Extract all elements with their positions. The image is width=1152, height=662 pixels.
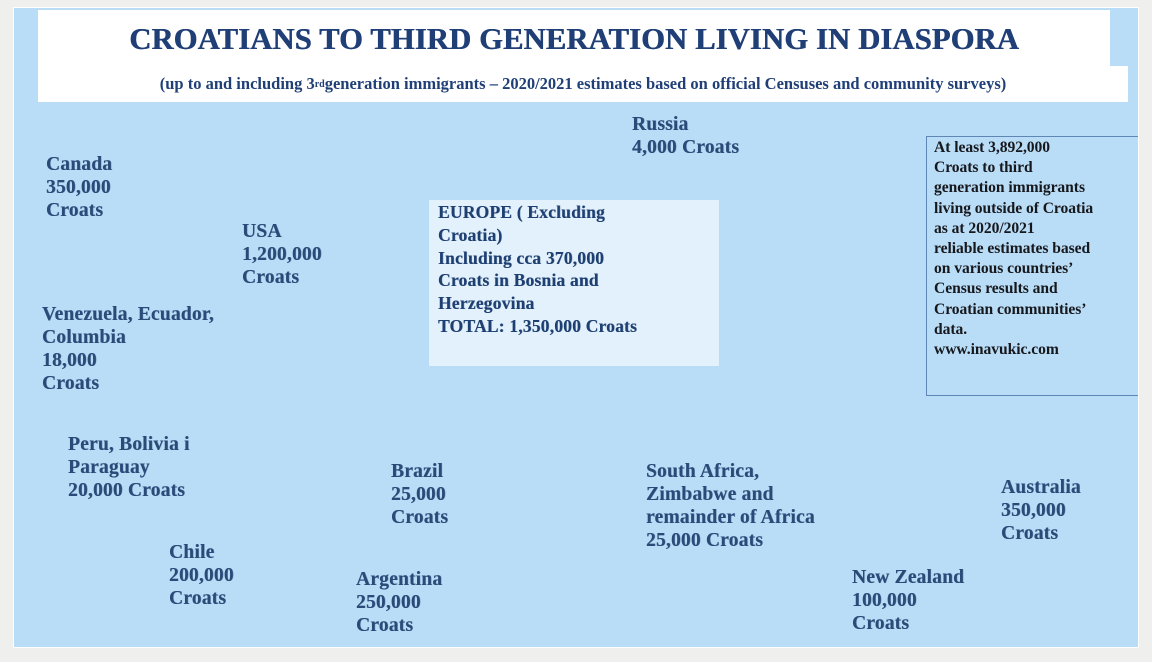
- subtitle-pre: (up to and including 3: [160, 74, 315, 94]
- page-subtitle: (up to and including 3rd generation immi…: [38, 66, 1128, 102]
- label-australia: Australia 350,000 Croats: [1001, 476, 1081, 545]
- label-brazil: Brazil 25,000 Croats: [391, 460, 448, 529]
- summary-info-text: At least 3,892,000 Croats to third gener…: [934, 138, 1138, 360]
- label-canada: Canada 350,000 Croats: [46, 153, 112, 222]
- label-usa: USA 1,200,000 Croats: [242, 220, 322, 289]
- subtitle-post: generation immigrants – 2020/2021 estima…: [325, 74, 1007, 94]
- label-south-africa: South Africa, Zimbabwe and remainder of …: [646, 460, 815, 552]
- label-peru: Peru, Bolivia i Paraguay 20,000 Croats: [68, 433, 190, 502]
- label-russia: Russia 4,000 Croats: [632, 113, 739, 159]
- page-title: CROATIANS TO THIRD GENERATION LIVING IN …: [38, 14, 1110, 64]
- label-venezuela: Venezuela, Ecuador, Columbia 18,000 Croa…: [42, 303, 214, 395]
- label-argentina: Argentina 250,000 Croats: [356, 568, 442, 637]
- label-chile: Chile 200,000 Croats: [169, 541, 234, 610]
- infographic-page: EUROPE ( Excluding Croatia) Including cc…: [0, 0, 1152, 662]
- map-frame: EUROPE ( Excluding Croatia) Including cc…: [14, 8, 1138, 647]
- label-europe: EUROPE ( Excluding Croatia) Including cc…: [438, 201, 734, 338]
- label-new-zealand: New Zealand 100,000 Croats: [852, 566, 964, 635]
- subtitle-ordinal: rd: [315, 79, 325, 90]
